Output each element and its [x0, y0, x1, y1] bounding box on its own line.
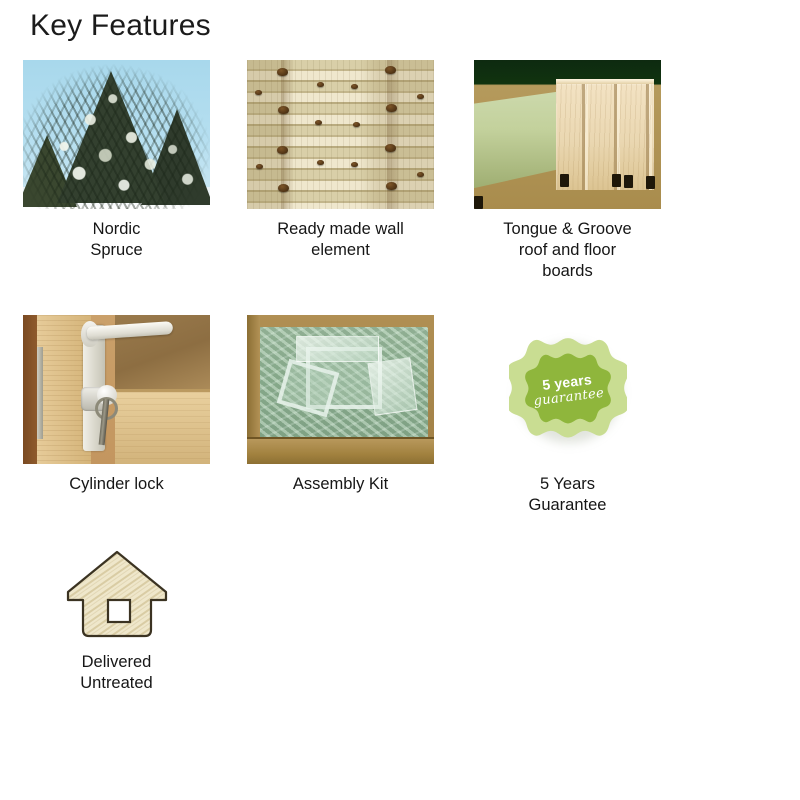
tg-groove	[646, 176, 655, 189]
kit-contents	[258, 327, 428, 439]
metal-plate	[296, 336, 380, 363]
caption-line: boards	[503, 261, 631, 282]
door-lower-panel	[115, 389, 210, 464]
tg-grain-texture	[556, 82, 653, 189]
feature-caption: Nordic Spruce	[90, 219, 142, 261]
wall-nail	[277, 146, 288, 154]
metal-plate	[367, 358, 417, 417]
wall-nail	[385, 66, 396, 74]
wall-nail	[256, 164, 263, 169]
caption-line: Delivered	[80, 652, 152, 673]
feature-delivered-untreated[interactable]: Delivered Untreated	[0, 544, 227, 694]
assembly-kit-image[interactable]	[247, 315, 434, 464]
features-row-3: Delivered Untreated	[0, 544, 800, 694]
page-title: Key Features	[30, 8, 211, 44]
features-row-1: Nordic Spruce	[0, 60, 800, 282]
guarantee-seal-image[interactable]: 5 years guarantee	[474, 315, 661, 464]
house-icon	[65, 550, 169, 642]
tg-groove	[612, 174, 621, 187]
tg-top-edge	[556, 79, 653, 84]
nordic-spruce-image[interactable]	[23, 60, 210, 209]
wall-nail	[385, 144, 396, 152]
caption-line: Tongue & Groove	[503, 219, 631, 240]
tongue-groove-image[interactable]	[474, 60, 661, 209]
wall-nail	[315, 120, 322, 125]
tg-groove	[624, 175, 633, 188]
wall-nail	[417, 172, 424, 177]
box-side-flap	[247, 315, 260, 439]
wall-nail	[353, 122, 360, 127]
caption-line: 5 Years	[529, 474, 607, 495]
tg-groove	[474, 196, 483, 209]
wall-nail	[317, 82, 324, 87]
box-front-edge	[247, 437, 434, 464]
key-features-page: Key Features Nordic Spr	[0, 0, 800, 800]
spruce-scene	[23, 60, 210, 209]
wall-nail	[351, 162, 358, 167]
house-shape-svg	[65, 550, 169, 642]
feature-nordic-spruce[interactable]: Nordic Spruce	[0, 60, 227, 261]
wall-nail	[351, 84, 358, 89]
wall-nail	[277, 68, 288, 76]
cylinder-lock-image[interactable]	[23, 315, 210, 464]
door-strike-plate	[37, 347, 43, 439]
wall-nail	[386, 182, 397, 190]
caption-line: roof and floor	[503, 240, 631, 261]
caption-line: Assembly Kit	[293, 474, 388, 495]
feature-caption: Tongue & Groove roof and floor boards	[503, 219, 631, 282]
tg-groove	[560, 174, 569, 187]
wall-nail	[255, 90, 262, 95]
caption-line: Ready made wall	[277, 219, 404, 240]
delivered-untreated-icon[interactable]	[23, 544, 210, 644]
wall-nail	[278, 184, 289, 192]
feature-caption: Cylinder lock	[69, 474, 163, 495]
features-row-2: Cylinder lock	[0, 315, 800, 516]
wall-nail	[278, 106, 289, 114]
feature-caption: 5 Years Guarantee	[529, 474, 607, 516]
feature-caption: Assembly Kit	[293, 474, 388, 495]
caption-line: Spruce	[90, 240, 142, 261]
caption-line: element	[277, 240, 404, 261]
wall-grain-texture	[247, 60, 434, 209]
feature-caption: Ready made wall element	[277, 219, 404, 261]
caption-line: Cylinder lock	[69, 474, 163, 495]
feature-ready-made-wall-element[interactable]: Ready made wall element	[227, 60, 454, 261]
feature-assembly-kit[interactable]: Assembly Kit	[227, 315, 454, 495]
caption-line: Guarantee	[529, 495, 607, 516]
features-grid: Nordic Spruce	[0, 60, 800, 694]
feature-caption: Delivered Untreated	[80, 652, 152, 694]
tg-board-end-face	[556, 82, 653, 189]
wall-nail	[386, 104, 397, 112]
caption-line: Untreated	[80, 673, 152, 694]
wall-element-image[interactable]	[247, 60, 434, 209]
feature-5-years-guarantee[interactable]: 5 years guarantee 5 Years Guarantee	[454, 315, 681, 516]
wall-nail	[317, 160, 324, 165]
guarantee-badge: 5 years guarantee	[509, 331, 627, 449]
feature-cylinder-lock[interactable]: Cylinder lock	[0, 315, 227, 495]
caption-line: Nordic	[90, 219, 142, 240]
door-frame	[23, 315, 37, 464]
wall-nail	[417, 94, 424, 99]
spruce-snow-clumps	[23, 60, 210, 209]
feature-tongue-and-groove-boards[interactable]: Tongue & Groove roof and floor boards	[454, 60, 681, 282]
badge-scallop-svg	[509, 331, 627, 449]
